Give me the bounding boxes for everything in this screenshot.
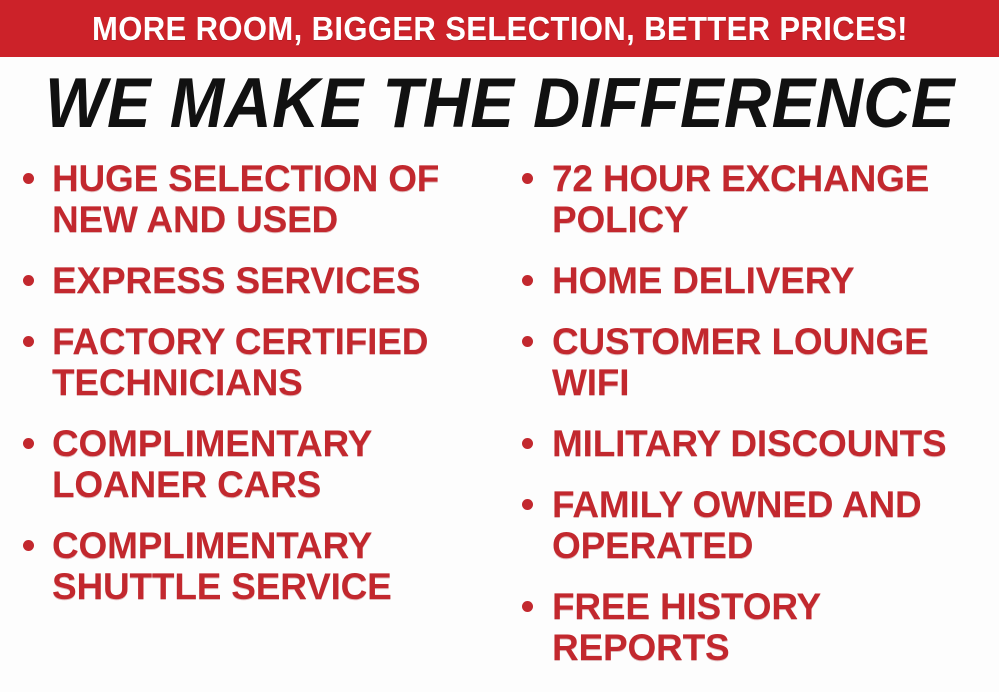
round-bullet-icon (23, 173, 34, 184)
headline-container: WE MAKE THE DIFFERENCE (0, 62, 999, 144)
list-item-label: COMPLIMENTARY LOANER CARS (52, 423, 504, 505)
round-bullet-icon (522, 601, 533, 612)
list-item: COMPLIMENTARY SHUTTLE SERVICE (12, 525, 504, 607)
list-item: COMPLIMENTARY LOANER CARS (12, 423, 504, 505)
round-bullet-icon (522, 499, 533, 510)
list-item: FAMILY OWNED AND OPERATED (508, 484, 999, 566)
top-tagline-text: MORE ROOM, BIGGER SELECTION, BETTER PRIC… (92, 12, 908, 45)
list-item: FREE HISTORY REPORTS (508, 586, 999, 668)
list-item-label: FAMILY OWNED AND OPERATED (552, 484, 999, 566)
list-item-label: FACTORY CERTIFIED TECHNICIANS (52, 321, 504, 403)
list-item-label: 72 HOUR EXCHANGE POLICY (552, 158, 999, 240)
page-title: WE MAKE THE DIFFERENCE (45, 67, 955, 140)
list-item: HOME DELIVERY (508, 260, 999, 301)
list-item: EXPRESS SERVICES (12, 260, 504, 301)
round-bullet-icon (23, 336, 34, 347)
round-bullet-icon (23, 275, 34, 286)
list-item: 72 HOUR EXCHANGE POLICY (508, 158, 999, 240)
round-bullet-icon (522, 336, 533, 347)
round-bullet-icon (23, 540, 34, 551)
benefits-column-left: HUGE SELECTION OF NEW AND USED EXPRESS S… (12, 158, 504, 692)
list-item-label: COMPLIMENTARY SHUTTLE SERVICE (52, 525, 504, 607)
round-bullet-icon (522, 438, 533, 449)
list-item: MILITARY DISCOUNTS (508, 423, 999, 464)
list-item-label: MILITARY DISCOUNTS (552, 423, 999, 464)
list-item-label: HOME DELIVERY (552, 260, 999, 301)
benefits-columns: HUGE SELECTION OF NEW AND USED EXPRESS S… (0, 158, 999, 692)
round-bullet-icon (522, 275, 533, 286)
benefits-column-right: 72 HOUR EXCHANGE POLICY HOME DELIVERY CU… (508, 158, 999, 692)
list-item-label: HUGE SELECTION OF NEW AND USED (52, 158, 504, 240)
list-item-label: FREE HISTORY REPORTS (552, 586, 999, 668)
top-tagline-strip: MORE ROOM, BIGGER SELECTION, BETTER PRIC… (0, 0, 999, 57)
list-item-label: CUSTOMER LOUNGE WIFI (552, 321, 999, 403)
list-item-label: EXPRESS SERVICES (52, 260, 504, 301)
list-item: HUGE SELECTION OF NEW AND USED (12, 158, 504, 240)
promo-banner: MORE ROOM, BIGGER SELECTION, BETTER PRIC… (0, 0, 999, 692)
list-item: FACTORY CERTIFIED TECHNICIANS (12, 321, 504, 403)
round-bullet-icon (23, 438, 34, 449)
list-item: CUSTOMER LOUNGE WIFI (508, 321, 999, 403)
round-bullet-icon (522, 173, 533, 184)
